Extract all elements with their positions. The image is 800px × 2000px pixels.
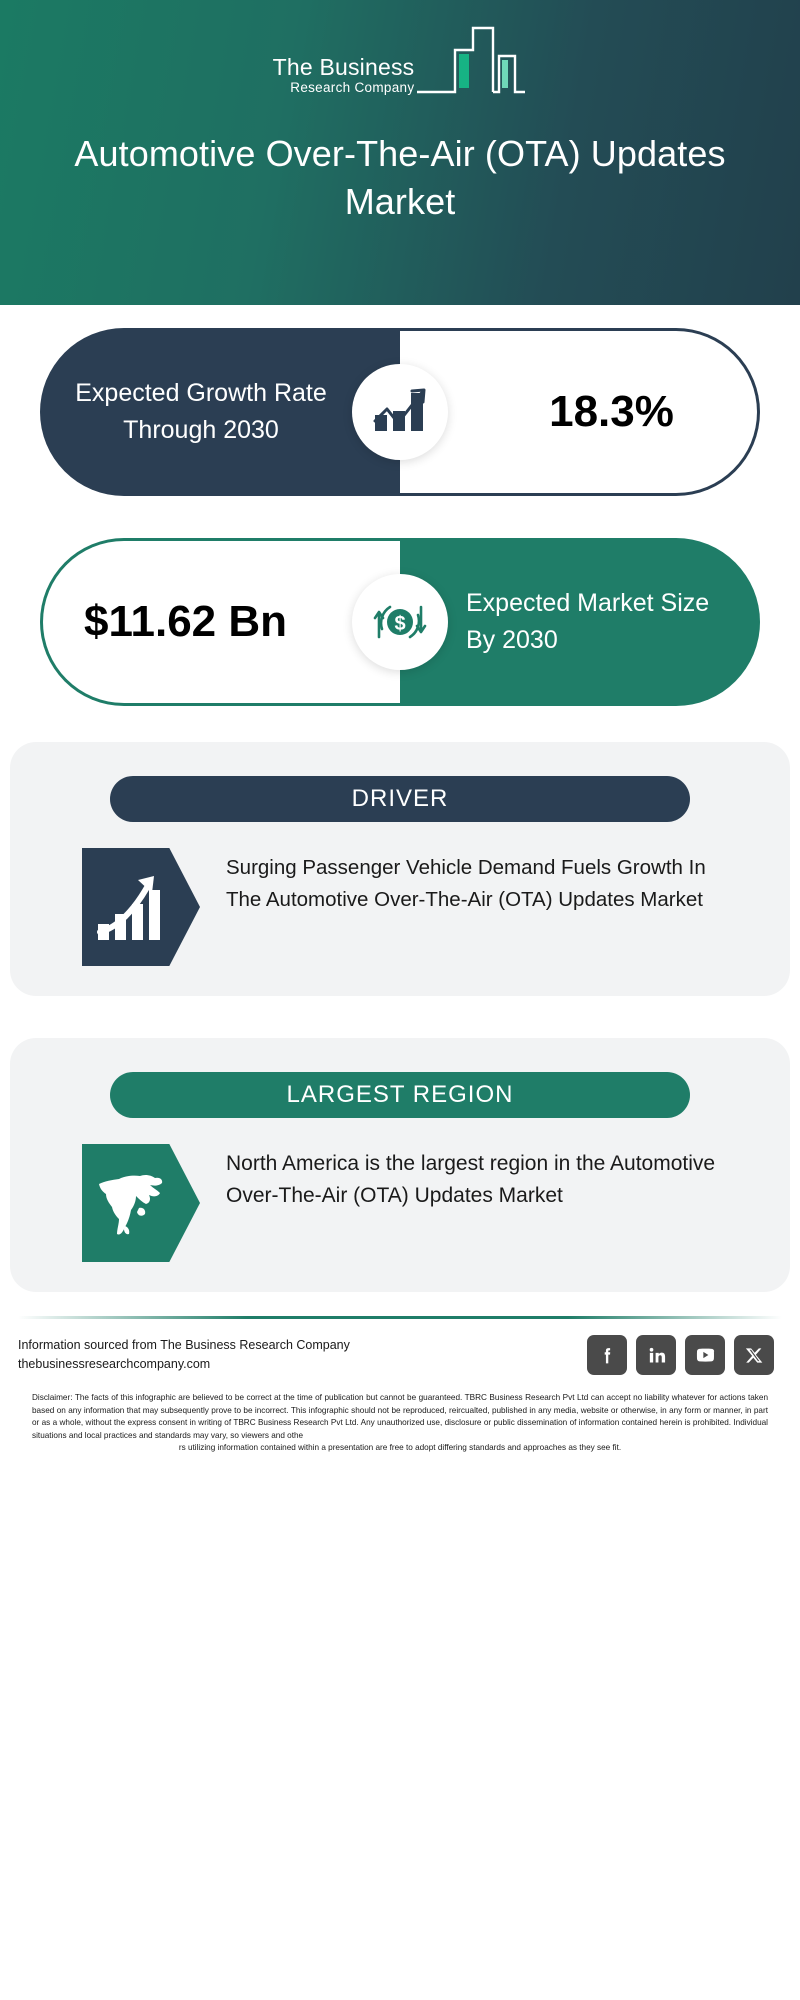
logo-secondary-text: Research Company	[273, 80, 415, 96]
footer-attribution-row: Information sourced from The Business Re…	[18, 1319, 782, 1375]
stat-card-value-panel: 18.3%	[400, 328, 760, 496]
stat-label: Expected Market Size By 2030	[400, 585, 760, 659]
source-line-2[interactable]: thebusinessresearchcompany.com	[18, 1355, 350, 1374]
driver-description: Surging Passenger Vehicle Demand Fuels G…	[226, 848, 732, 916]
x-twitter-icon[interactable]	[734, 1335, 774, 1375]
stats-section: Expected Growth Rate Through 2030 18.3% …	[0, 328, 800, 706]
stat-card-growth-rate: Expected Growth Rate Through 2030 18.3%	[40, 328, 760, 496]
svg-text:$: $	[394, 613, 405, 635]
stat-value: 18.3%	[400, 387, 757, 437]
page-title: Automotive Over-The-Air (OTA) Updates Ma…	[0, 130, 800, 226]
disclaimer-text: Disclaimer: The facts of this infographi…	[18, 1392, 782, 1455]
largest-region-section: LARGEST REGION North America is the larg…	[10, 1038, 790, 1292]
driver-content: Surging Passenger Vehicle Demand Fuels G…	[10, 822, 790, 966]
company-logo: The Business Research Company	[0, 22, 800, 98]
stat-card-label-panel: Expected Growth Rate Through 2030	[40, 328, 400, 496]
dollar-refresh-icon: $	[352, 574, 448, 670]
header-banner: The Business Research Company Automotive…	[0, 0, 800, 305]
source-attribution: Information sourced from The Business Re…	[18, 1336, 350, 1374]
social-links	[587, 1335, 782, 1375]
stat-card-market-size: $11.62 Bn Expected Market Size By 2030 $	[40, 538, 760, 706]
disclaimer-tail: rs utilizing information contained withi…	[32, 1442, 768, 1455]
stat-label: Expected Growth Rate Through 2030	[40, 375, 400, 449]
driver-heading-label: DRIVER	[352, 785, 449, 813]
footer: Information sourced from The Business Re…	[0, 1316, 800, 1455]
region-content: North America is the largest region in t…	[10, 1118, 790, 1262]
north-america-map-icon	[82, 1144, 200, 1262]
source-line-1: Information sourced from The Business Re…	[18, 1336, 350, 1355]
growth-chart-icon	[352, 364, 448, 460]
facebook-icon[interactable]	[587, 1335, 627, 1375]
disclaimer-body: Disclaimer: The facts of this infographi…	[32, 1393, 768, 1440]
logo-primary-text: The Business	[273, 54, 415, 80]
growth-arrow-bars-icon	[82, 848, 200, 966]
stat-card-value-panel: $11.62 Bn	[40, 538, 400, 706]
region-description: North America is the largest region in t…	[226, 1144, 732, 1212]
linkedin-icon[interactable]	[636, 1335, 676, 1375]
stat-card-label-panel: Expected Market Size By 2030	[400, 538, 760, 706]
region-heading-pill: LARGEST REGION	[110, 1072, 690, 1118]
youtube-icon[interactable]	[685, 1335, 725, 1375]
region-heading-label: LARGEST REGION	[287, 1081, 514, 1109]
driver-heading-pill: DRIVER	[110, 776, 690, 822]
logo-bar-chart-icon	[415, 22, 527, 98]
stat-value: $11.62 Bn	[43, 597, 400, 647]
driver-section: DRIVER Surging Passenger Vehicle Demand …	[10, 742, 790, 996]
